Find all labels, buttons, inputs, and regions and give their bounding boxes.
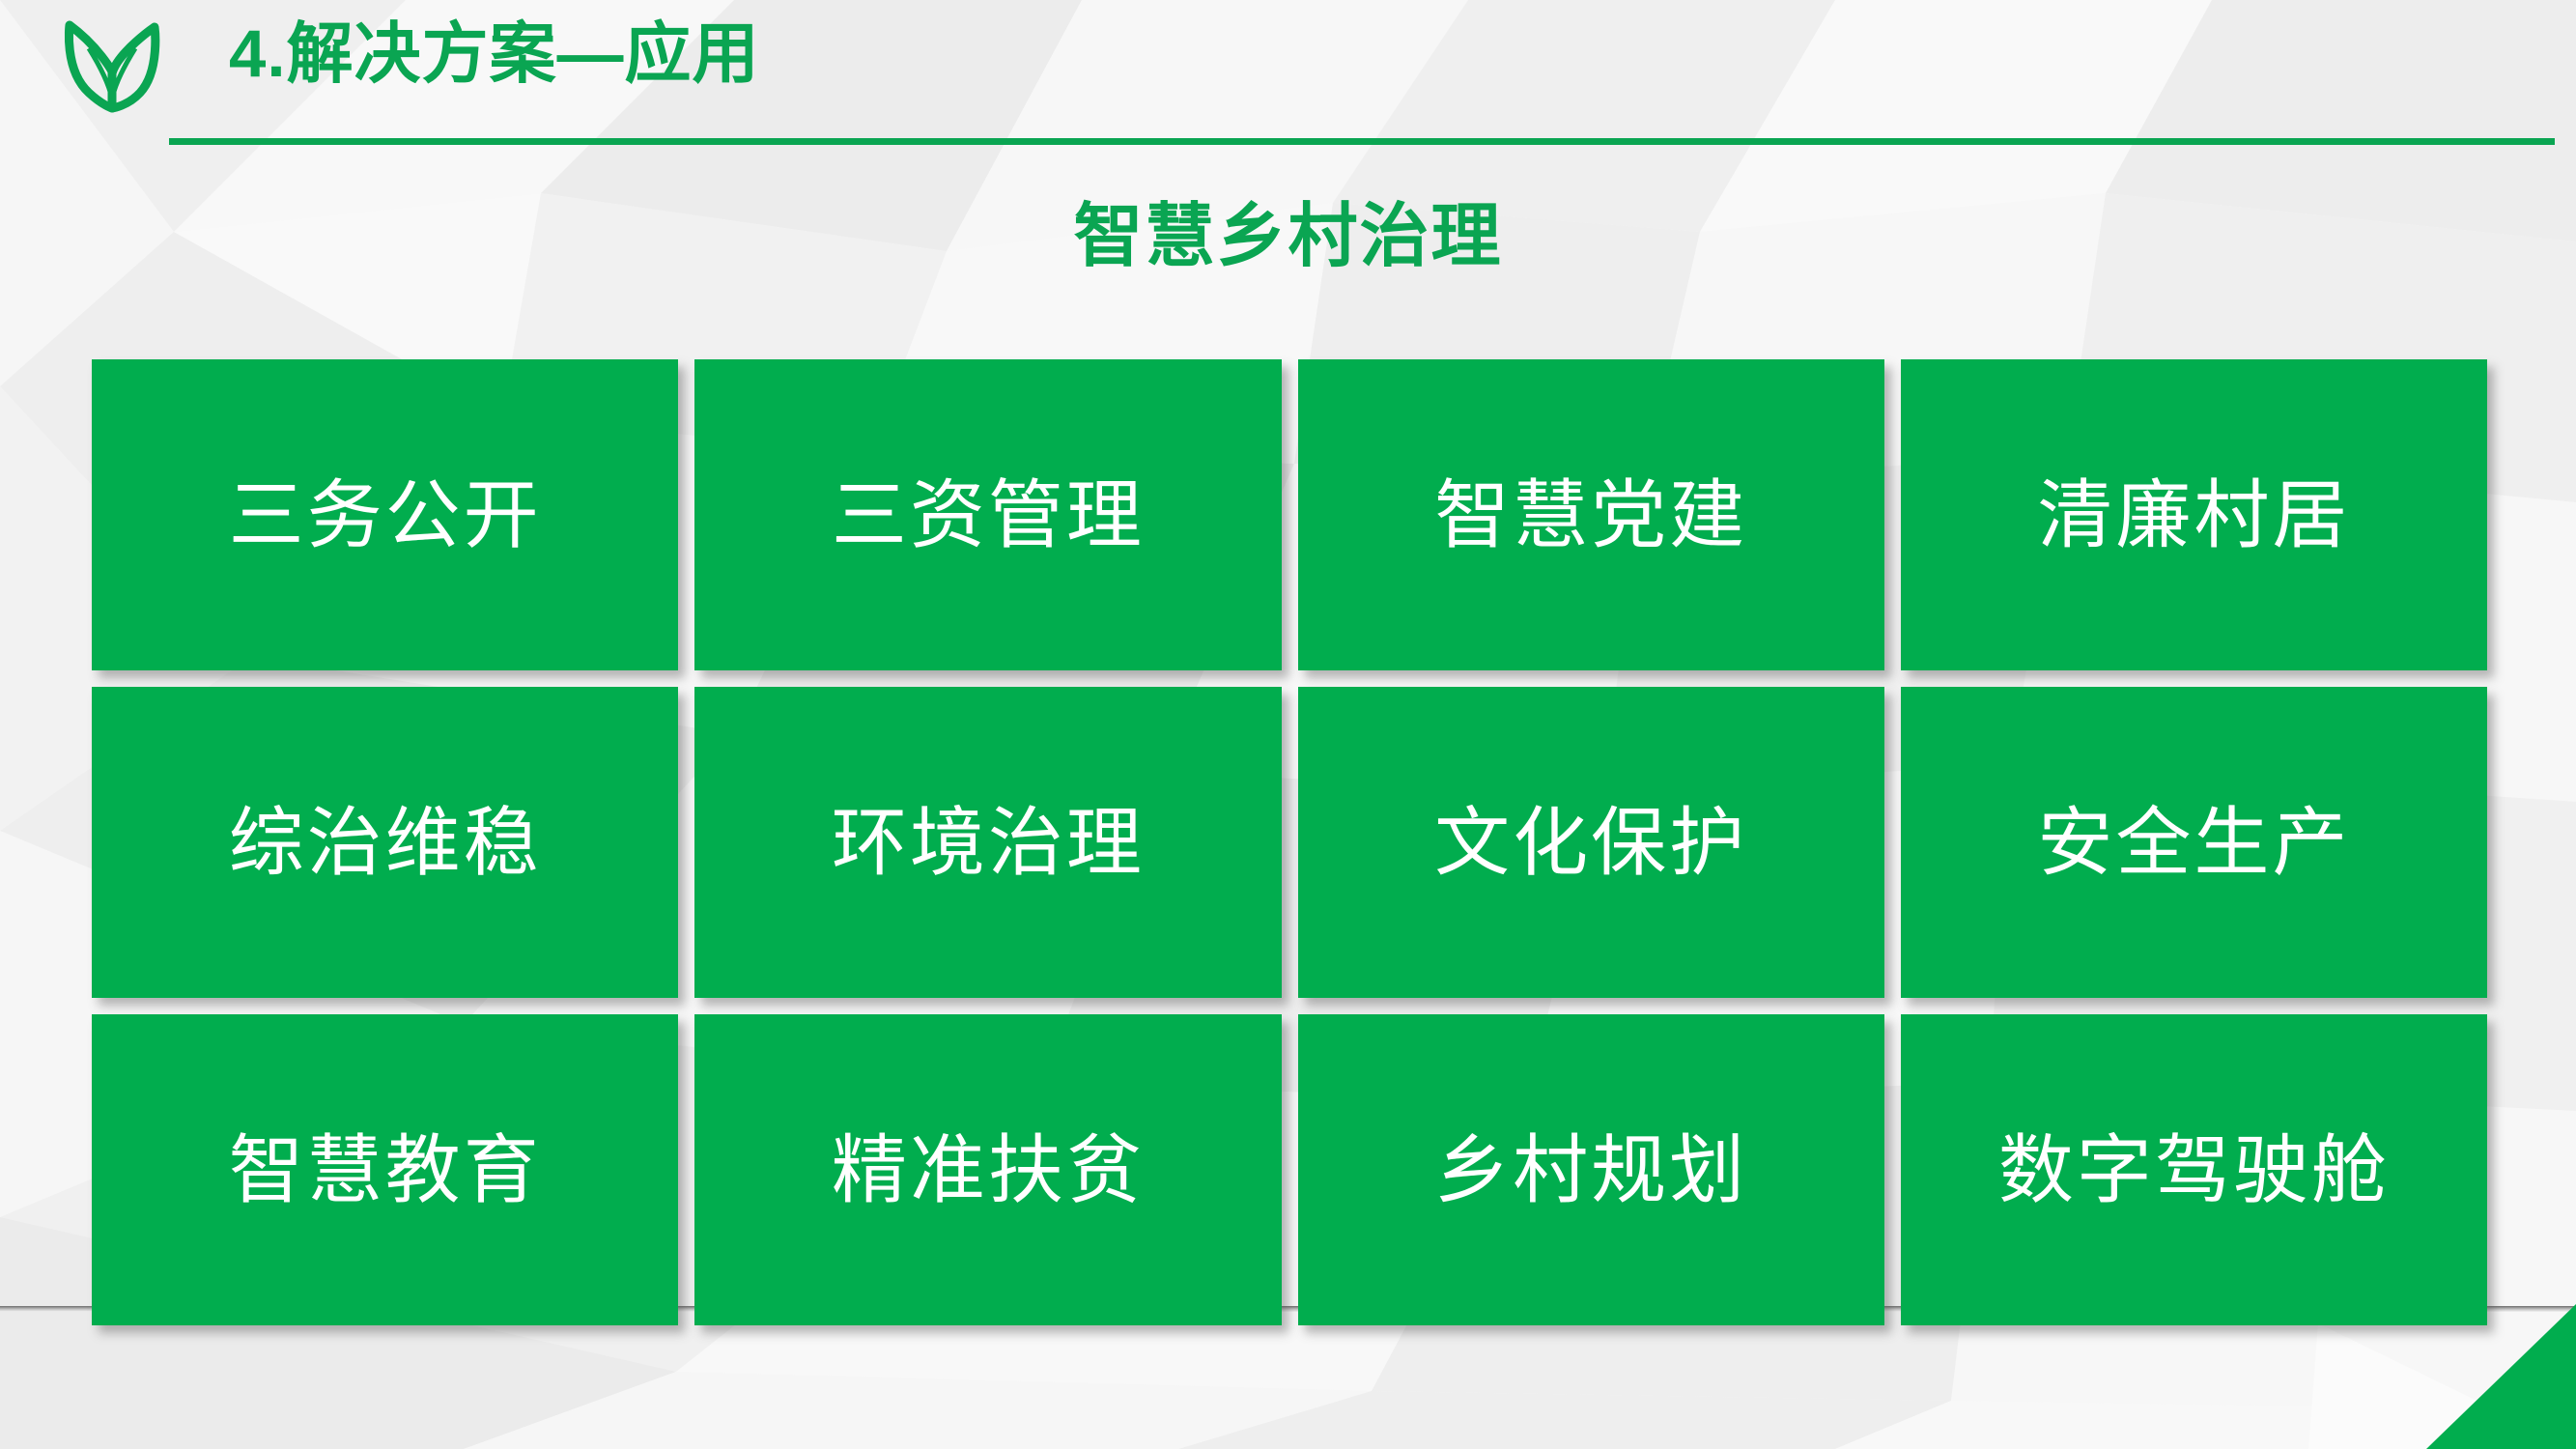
- grid-card-label: 数字驾驶舱: [1998, 1132, 2390, 1207]
- grid-card[interactable]: 文化保护: [1298, 687, 1884, 998]
- grid-card-label: 智慧党建: [1434, 477, 1747, 553]
- grid-card-label: 清廉村居: [2037, 477, 2350, 553]
- grid-card-label: 三务公开: [229, 477, 542, 553]
- grid-card-label: 三资管理: [832, 477, 1145, 553]
- grid-card[interactable]: 安全生产: [1901, 687, 2487, 998]
- grid-card[interactable]: 三资管理: [694, 359, 1281, 670]
- grid-card[interactable]: 三务公开: [92, 359, 678, 670]
- grid-card[interactable]: 环境治理: [694, 687, 1281, 998]
- grid-card-label: 智慧教育: [229, 1132, 542, 1207]
- grid-card[interactable]: 综治维稳: [92, 687, 678, 998]
- grid-card-label: 综治维稳: [229, 805, 542, 880]
- grid-card[interactable]: 精准扶贫: [694, 1014, 1281, 1325]
- section-subtitle: 智慧乡村治理: [0, 179, 2576, 280]
- grid-card-label: 文化保护: [1434, 805, 1747, 880]
- corner-accent-triangle: [2335, 1304, 2576, 1449]
- grid-card-label: 安全生产: [2037, 805, 2350, 880]
- application-card-grid: 三务公开 三资管理 智慧党建 清廉村居 综治维稳 环境治理 文化保护 安全生产 …: [92, 359, 2487, 1325]
- title-underline: [169, 138, 2555, 145]
- grid-card[interactable]: 智慧党建: [1298, 359, 1884, 670]
- grid-card[interactable]: 清廉村居: [1901, 359, 2487, 670]
- grid-card[interactable]: 乡村规划: [1298, 1014, 1884, 1325]
- leaf-logo-icon: [60, 14, 166, 120]
- grid-card-label: 乡村规划: [1434, 1132, 1747, 1207]
- page-title: 4.解决方案—应用: [229, 19, 760, 89]
- grid-card[interactable]: 数字驾驶舱: [1901, 1014, 2487, 1325]
- grid-card-label: 环境治理: [832, 805, 1145, 880]
- slide-header: 4.解决方案—应用: [0, 0, 2576, 145]
- grid-card-label: 精准扶贫: [832, 1132, 1145, 1207]
- grid-card[interactable]: 智慧教育: [92, 1014, 678, 1325]
